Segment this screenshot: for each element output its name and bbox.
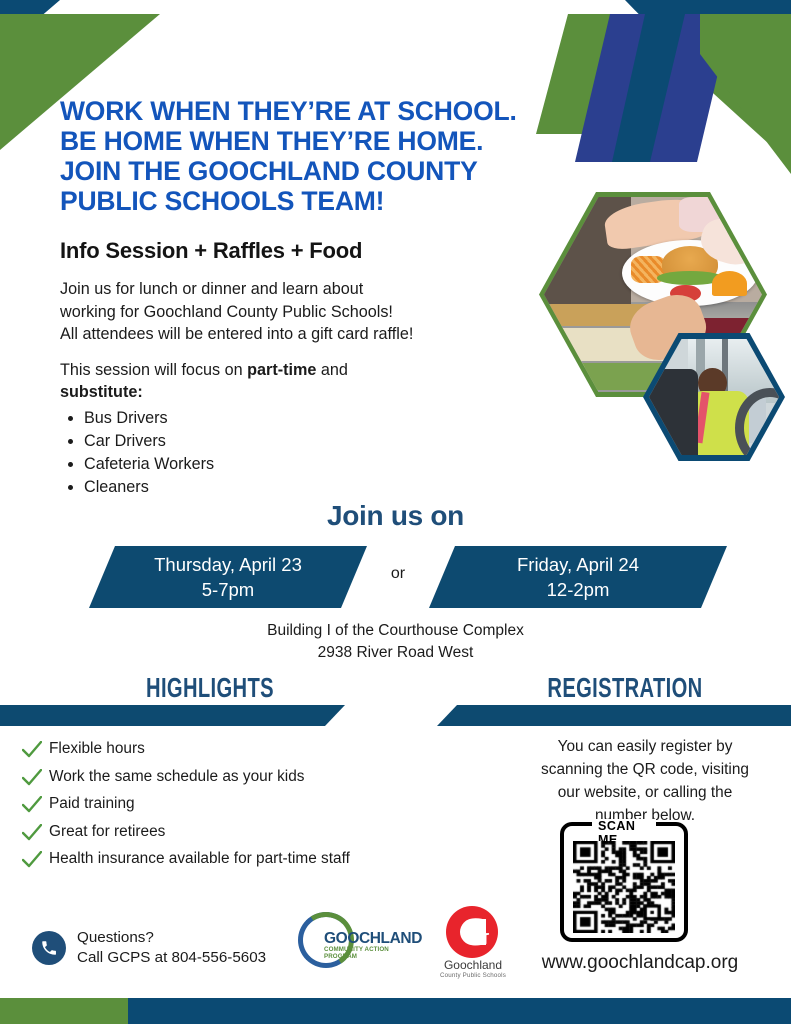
- session-friday-time: 12-2pm: [547, 577, 610, 602]
- highlights-title: HIGHLIGHTS: [102, 672, 318, 704]
- headline-line-3: JOIN THE GOOCHLAND COUNTY: [60, 156, 650, 186]
- list-item: Flexible hours: [22, 736, 382, 763]
- footer-navy-block: [128, 998, 791, 1024]
- questions-label: Questions?: [77, 929, 154, 946]
- highlights-header-bar: [0, 705, 345, 726]
- check-icon: [22, 736, 42, 762]
- join-us-title: Join us on: [0, 500, 791, 532]
- highlight-text: Work the same schedule as your kids: [49, 764, 382, 791]
- or-separator: or: [367, 565, 429, 583]
- headline-line-2: BE HOME WHEN THEY’RE HOME.: [60, 126, 650, 156]
- footer-green-block: [0, 998, 128, 1024]
- goochland-cap-logo: GOOCHLAND COMMUNITY ACTION PROGRAM: [298, 912, 410, 970]
- list-item: Paid training: [22, 791, 382, 818]
- list-item: Bus Drivers: [84, 407, 540, 430]
- role-list: Bus Drivers Car Drivers Cafeteria Worker…: [60, 407, 540, 499]
- bus-driver-photo: [643, 333, 785, 461]
- venue-line-1: Building I of the Courthouse Complex: [0, 620, 791, 642]
- session-thursday-date: Thursday, April 23: [154, 552, 302, 577]
- session-friday-date: Friday, April 24: [517, 552, 639, 577]
- registration-copy-line-1: You can easily register by: [500, 735, 790, 758]
- focus-bold-part-time: part-time: [247, 361, 316, 379]
- qr-code[interactable]: SCAN ME: [560, 822, 688, 942]
- highlight-text: Great for retirees: [49, 819, 382, 846]
- questions-text: Questions? Call GCPS at 804-556-5603: [77, 928, 266, 968]
- list-item: Work the same schedule as your kids: [22, 764, 382, 791]
- green-right-triangle: [700, 14, 791, 174]
- website-url[interactable]: www.goochlandcap.org: [490, 952, 790, 974]
- highlight-text: Health insurance available for part-time…: [49, 846, 382, 873]
- qr-matrix: [573, 841, 675, 933]
- venue-address: Building I of the Courthouse Complex 293…: [0, 620, 791, 664]
- intro-paragraph: Join us for lunch or dinner and learn ab…: [60, 278, 540, 346]
- registration-copy-line-3: our website, or calling the: [500, 781, 790, 804]
- poster-canvas: WORK WHEN THEY’RE AT SCHOOL. BE HOME WHE…: [0, 0, 791, 1024]
- check-icon: [22, 819, 42, 845]
- registration-title: REGISTRATION: [506, 672, 744, 704]
- list-item: Car Drivers: [84, 430, 540, 453]
- intro-line-1: Join us for lunch or dinner and learn ab…: [60, 280, 363, 298]
- focus-paragraph: This session will focus on part-time and…: [60, 359, 540, 404]
- gcps-logo-letter: G: [459, 908, 490, 956]
- phone-number: Call GCPS at 804-556-5603: [77, 949, 266, 966]
- gcps-logo: G Goochland County Public Schools: [434, 906, 512, 982]
- check-icon: [22, 764, 42, 790]
- session-thursday-time: 5-7pm: [202, 577, 254, 602]
- headline-line-1: WORK WHEN THEY’RE AT SCHOOL.: [60, 96, 650, 126]
- intro-line-3: All attendees will be entered into a gif…: [60, 325, 413, 343]
- intro-line-2: working for Goochland County Public Scho…: [60, 303, 393, 321]
- phone-icon: [32, 931, 66, 965]
- check-icon: [22, 846, 42, 872]
- list-item: Cleaners: [84, 476, 540, 499]
- subheadline: Info Session + Raffles + Food: [60, 238, 362, 264]
- highlights-list: Flexible hours Work the same schedule as…: [22, 736, 382, 874]
- registration-copy: You can easily register by scanning the …: [500, 735, 790, 827]
- gcps-logo-subtitle: County Public Schools: [434, 972, 512, 979]
- highlight-text: Paid training: [49, 791, 382, 818]
- registration-copy-line-2: scanning the QR code, visiting: [500, 758, 790, 781]
- gcps-logo-mark: G: [446, 906, 500, 958]
- list-item: Cafeteria Workers: [84, 453, 540, 476]
- highlight-text: Flexible hours: [49, 736, 382, 763]
- gcps-logo-name: Goochland: [434, 959, 512, 972]
- list-item: Health insurance available for part-time…: [22, 846, 382, 873]
- venue-line-2: 2938 River Road West: [0, 642, 791, 664]
- focus-prefix: This session will focus on: [60, 361, 247, 379]
- list-item: Great for retirees: [22, 819, 382, 846]
- check-icon: [22, 791, 42, 817]
- session-banner-thursday: Thursday, April 23 5-7pm: [89, 546, 367, 608]
- focus-mid: and: [316, 361, 348, 379]
- session-banner-friday: Friday, April 24 12-2pm: [429, 546, 727, 608]
- cap-logo-tagline: COMMUNITY ACTION PROGRAM: [324, 946, 410, 960]
- questions-block: Questions? Call GCPS at 804-556-5603: [32, 928, 266, 968]
- focus-bold-substitute: substitute:: [60, 383, 143, 401]
- registration-header-bar: [437, 705, 791, 726]
- body-copy: Join us for lunch or dinner and learn ab…: [60, 278, 540, 499]
